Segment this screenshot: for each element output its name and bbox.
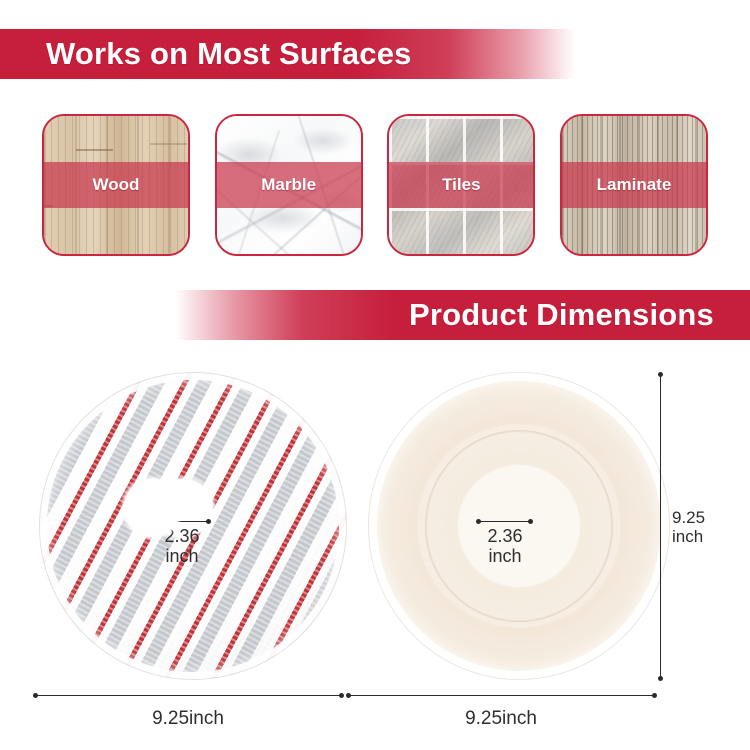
height-dimension-value: 9.25 bbox=[672, 508, 705, 527]
surfaces-banner-title: Works on Most Surfaces bbox=[46, 36, 412, 72]
height-dimension-unit: inch bbox=[672, 527, 705, 546]
surface-tile-label: Wood bbox=[93, 175, 140, 195]
hole-diameter-label-right: 2.36 inch bbox=[463, 526, 547, 566]
hole-diameter-line-right bbox=[478, 521, 531, 522]
surface-tile-label: Marble bbox=[261, 175, 316, 195]
dimensions-banner-title: Product Dimensions bbox=[409, 297, 714, 333]
width-dimension-line-right bbox=[348, 695, 655, 696]
height-dimension-label: 9.25 inch bbox=[672, 508, 705, 546]
surface-label-band: Wood bbox=[44, 162, 188, 208]
hole-diameter-value: 2.36 bbox=[463, 526, 547, 546]
height-dimension-line bbox=[660, 374, 661, 679]
width-dimension-line-left bbox=[35, 695, 342, 696]
hole-diameter-unit: inch bbox=[140, 546, 224, 566]
product-dimensions-diagram: 2.36 inch 2.36 inch 9.25 inch 9.25inch 9… bbox=[0, 350, 750, 750]
dimensions-banner: Product Dimensions bbox=[175, 290, 750, 340]
surface-tile-label: Tiles bbox=[442, 175, 480, 195]
surface-label-band: Laminate bbox=[562, 162, 706, 208]
surface-tile-label: Laminate bbox=[597, 175, 672, 195]
surface-tile-tiles: Tiles bbox=[387, 114, 535, 256]
surface-tile-wood: Wood bbox=[42, 114, 190, 256]
surface-label-band: Tiles bbox=[389, 162, 533, 208]
width-dimension-label-left: 9.25inch bbox=[38, 708, 338, 730]
infographic-page: Works on Most Surfaces Wood Marble Tiles… bbox=[0, 0, 750, 750]
hole-diameter-unit: inch bbox=[463, 546, 547, 566]
width-dimension-label-right: 9.25inch bbox=[351, 708, 651, 730]
surfaces-banner: Works on Most Surfaces bbox=[0, 29, 575, 79]
surface-label-band: Marble bbox=[217, 162, 361, 208]
plain-mop-pad-center-hole bbox=[124, 479, 180, 537]
surface-tiles-row: Wood Marble Tiles Laminate bbox=[42, 114, 708, 256]
surface-tile-laminate: Laminate bbox=[560, 114, 708, 256]
surface-tile-marble: Marble bbox=[215, 114, 363, 256]
